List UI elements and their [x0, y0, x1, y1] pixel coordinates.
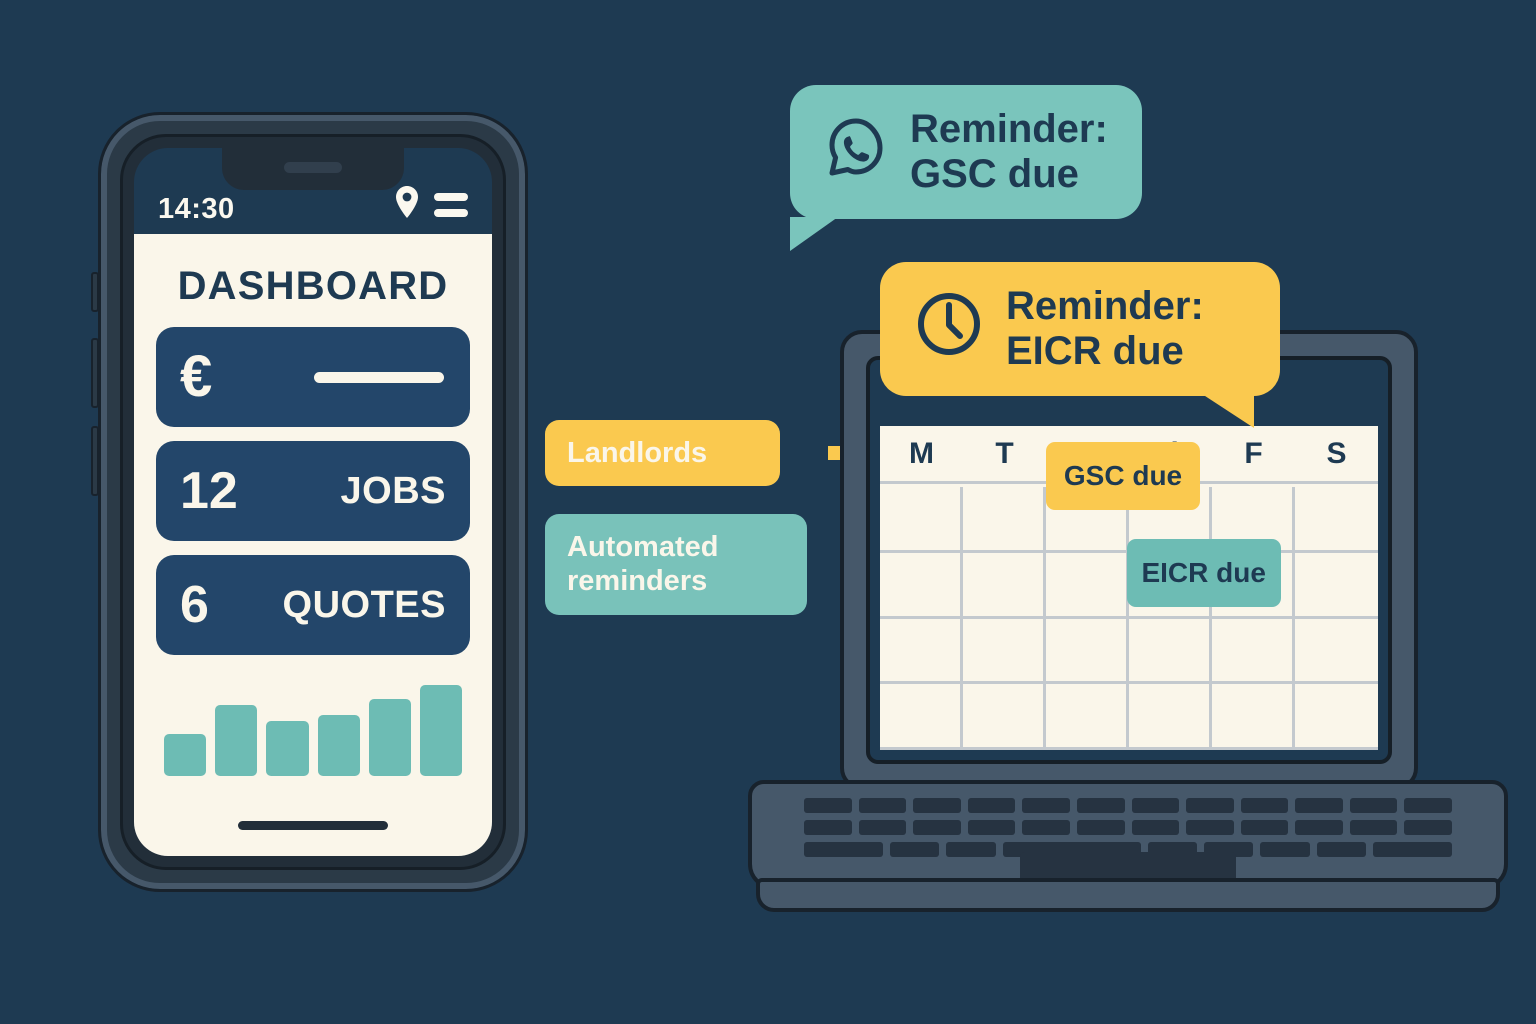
phone-speaker-slot — [284, 162, 342, 173]
calendar-cell[interactable] — [1295, 619, 1378, 685]
eicr-reminder-bubble[interactable]: Reminder: EICR due — [880, 262, 1280, 396]
calendar-cell[interactable] — [880, 553, 963, 619]
keyboard-key[interactable] — [1077, 798, 1125, 813]
keyboard-key[interactable] — [804, 798, 852, 813]
page-title: DASHBOARD — [156, 264, 470, 309]
laptop-device: MTWThFS GSC due EICR due — [748, 330, 1508, 920]
keyboard-key[interactable] — [1022, 820, 1070, 835]
keyboard-key[interactable] — [1317, 842, 1366, 857]
jobs-label: JOBS — [341, 470, 446, 513]
keyboard-key[interactable] — [890, 842, 939, 857]
calendar-cell[interactable] — [1129, 619, 1212, 685]
phone-device: 14:30 DASHBOARD € — [98, 112, 528, 892]
jobs-card[interactable]: 12 JOBS — [156, 441, 470, 541]
keyboard-key[interactable] — [1373, 842, 1452, 857]
jobs-count: 12 — [180, 465, 238, 517]
calendar-event-gsc[interactable]: GSC due — [1046, 442, 1200, 510]
calendar-event-eicr[interactable]: EICR due — [1127, 539, 1281, 607]
calendar-cell[interactable] — [880, 619, 963, 685]
chart-bar — [164, 734, 206, 776]
calendar-cell[interactable] — [1046, 553, 1129, 619]
quotes-label: QUOTES — [283, 584, 446, 627]
keyboard-key[interactable] — [913, 820, 961, 835]
location-pin-icon[interactable] — [394, 185, 420, 224]
quotes-card[interactable]: 6 QUOTES — [156, 555, 470, 655]
keyboard-row — [804, 798, 1452, 813]
keyboard-key[interactable] — [913, 798, 961, 813]
keyboard-key[interactable] — [1241, 798, 1289, 813]
automated-reminders-label: Automated reminders — [567, 531, 718, 597]
phone-volume-down-button[interactable] — [91, 426, 99, 496]
landlords-pill[interactable]: Landlords — [545, 420, 780, 486]
chart-bar — [266, 721, 308, 776]
keyboard-key[interactable] — [1022, 798, 1070, 813]
keyboard-key[interactable] — [1350, 820, 1398, 835]
keyboard-key[interactable] — [859, 820, 907, 835]
phone-notch — [222, 148, 404, 190]
phone-app-content: DASHBOARD € 12 JOBS 6 QUOTES — [134, 234, 492, 856]
keyboard-key[interactable] — [1404, 798, 1452, 813]
keyboard-key[interactable] — [1186, 820, 1234, 835]
calendar-day-header: T — [963, 426, 1046, 481]
clock-icon — [914, 289, 984, 369]
keyboard-row — [804, 820, 1452, 835]
laptop-base — [748, 780, 1508, 890]
keyboard-key[interactable] — [1260, 842, 1309, 857]
keyboard-key[interactable] — [1186, 798, 1234, 813]
chart-bar — [420, 685, 462, 776]
home-indicator[interactable] — [238, 821, 388, 830]
calendar-event-eicr-label: EICR due — [1141, 557, 1265, 589]
calendar-cell[interactable] — [880, 487, 963, 553]
phone-volume-up-button[interactable] — [91, 338, 99, 408]
phone-screen: 14:30 DASHBOARD € — [134, 148, 492, 856]
calendar-cell[interactable] — [1046, 619, 1129, 685]
quotes-count: 6 — [180, 579, 209, 631]
calendar-cell[interactable] — [1295, 684, 1378, 750]
keyboard-key[interactable] — [1404, 820, 1452, 835]
calendar-cell[interactable] — [963, 487, 1046, 553]
keyboard-key[interactable] — [1295, 820, 1343, 835]
keyboard-key[interactable] — [1077, 820, 1125, 835]
calendar-app: MTWThFS GSC due EICR due — [880, 426, 1378, 750]
chart-bar — [318, 715, 360, 776]
calendar-grid — [880, 487, 1378, 750]
calendar-cell[interactable] — [1295, 553, 1378, 619]
whatsapp-icon — [824, 115, 888, 189]
laptop-lid: MTWThFS GSC due EICR due — [840, 330, 1418, 790]
whatsapp-reminder-bubble[interactable]: Reminder: GSC due — [790, 85, 1142, 219]
laptop-bezel: MTWThFS GSC due EICR due — [866, 356, 1392, 764]
keyboard-key[interactable] — [1132, 798, 1180, 813]
status-icon-group — [394, 185, 468, 224]
eicr-reminder-text: Reminder: EICR due — [1006, 284, 1204, 374]
chart-bar — [215, 705, 257, 776]
calendar-cell[interactable] — [1129, 684, 1212, 750]
keyboard-key[interactable] — [804, 820, 852, 835]
keyboard-key[interactable] — [968, 820, 1016, 835]
revenue-value-placeholder — [314, 372, 444, 383]
status-clock: 14:30 — [158, 195, 235, 224]
keyboard-key[interactable] — [859, 798, 907, 813]
hamburger-menu-icon[interactable] — [434, 193, 468, 217]
calendar-day-header: F — [1212, 426, 1295, 481]
calendar-day-header: M — [880, 426, 963, 481]
calendar-event-gsc-label: GSC due — [1064, 460, 1182, 492]
phone-mute-button[interactable] — [91, 272, 99, 312]
keyboard-key[interactable] — [968, 798, 1016, 813]
keyboard-key[interactable] — [1132, 820, 1180, 835]
calendar-cell[interactable] — [1295, 487, 1378, 553]
calendar-cell[interactable] — [880, 684, 963, 750]
illustration-canvas: 14:30 DASHBOARD € — [0, 0, 1536, 1024]
keyboard-key[interactable] — [1241, 820, 1289, 835]
laptop-front-edge — [756, 878, 1500, 912]
whatsapp-reminder-text: Reminder: GSC due — [910, 107, 1108, 197]
revenue-card[interactable]: € — [156, 327, 470, 427]
calendar-cell[interactable] — [1212, 619, 1295, 685]
landlords-label: Landlords — [567, 437, 707, 469]
calendar-cell[interactable] — [963, 619, 1046, 685]
laptop-keyboard[interactable] — [804, 798, 1452, 857]
calendar-cell[interactable] — [963, 684, 1046, 750]
calendar-cell[interactable] — [1046, 684, 1129, 750]
keyboard-key[interactable] — [1350, 798, 1398, 813]
calendar-cell[interactable] — [1212, 684, 1295, 750]
calendar-cell[interactable] — [963, 553, 1046, 619]
keyboard-key[interactable] — [946, 842, 995, 857]
keyboard-key[interactable] — [1295, 798, 1343, 813]
keyboard-key[interactable] — [804, 842, 883, 857]
chart-bar — [369, 699, 411, 776]
calendar-day-header: S — [1295, 426, 1378, 481]
euro-currency-icon: € — [180, 348, 212, 406]
